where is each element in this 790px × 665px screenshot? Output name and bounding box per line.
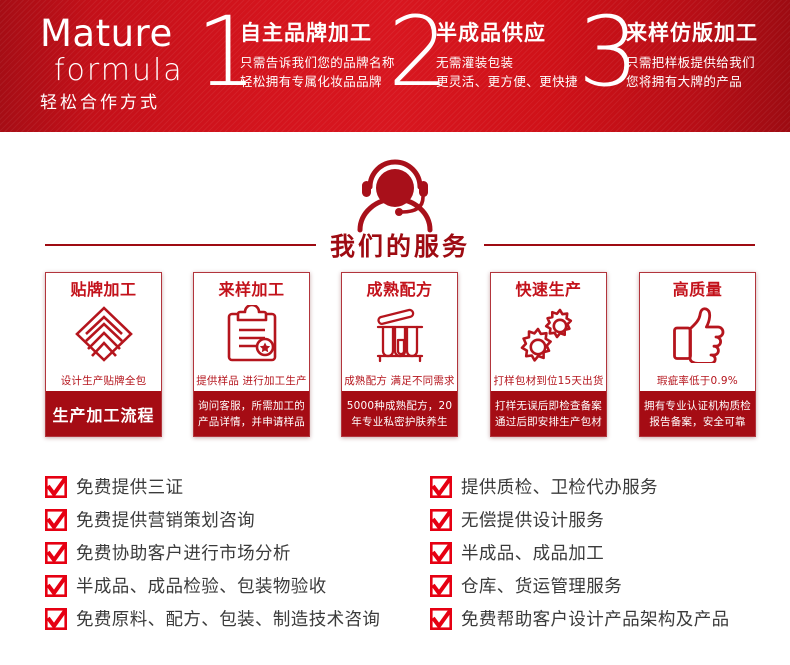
header-item-2-title: 半成品供应 (436, 20, 578, 46)
card-4-footer: 打样无误后即检查备案 通过后即安排生产包材 (491, 391, 606, 436)
card-3-subtitle: 成熟配方 满足不同需求 (342, 369, 457, 391)
header-item-3-text: 来样仿版加工 只需把样板提供给我们 您将拥有大牌的产品 (626, 20, 758, 91)
checklist-label: 无偿提供设计服务 (461, 507, 604, 532)
card-2-footer-line1: 询问客服，所需加工的 (198, 398, 305, 414)
checklist-label: 仓库、货运管理服务 (461, 573, 622, 598)
list-item: 免费协助客户进行市场分析 (45, 536, 425, 569)
checkbox-checked-icon (45, 608, 67, 630)
checklist-label: 半成品、成品检验、包装物验收 (76, 573, 327, 598)
card-4-subtitle: 打样包材到位15天出货 (491, 369, 606, 391)
card-4-title: 快速生产 (515, 280, 581, 300)
benefits-checklist: 免费提供三证 免费提供营销策划咨询 免费协助客户进行市场分析 半成品、成品检验、… (45, 470, 765, 640)
header-item-1-line1: 只需告诉我们您的品牌名称 (240, 53, 395, 72)
header-item-3-line2: 您将拥有大牌的产品 (626, 72, 758, 91)
checkbox-checked-icon (430, 509, 452, 531)
header-item-1-title: 自主品牌加工 (240, 20, 395, 46)
card-2-subtitle: 提供样品 进行加工生产 (194, 369, 309, 391)
service-section-title: 我们的服务 (45, 228, 755, 262)
checklist-label: 免费提供营销策划咨询 (76, 507, 255, 532)
card-5-subtitle: 瑕疵率低于0.9% (640, 369, 755, 391)
brand-line-mature: Mature (40, 14, 205, 54)
header-item-1-line2: 轻松拥有专属化妆品品牌 (240, 72, 395, 91)
service-card-5[interactable]: 高质量 瑕疵率低于0.9% 拥有专业认证机构质检 报告备案，安全可靠 (639, 272, 756, 437)
card-4-head: 快速生产 (491, 273, 606, 369)
list-item: 免费原料、配方、包装、制造技术咨询 (45, 602, 425, 635)
checkbox-checked-icon (45, 509, 67, 531)
checkbox-checked-icon (430, 608, 452, 630)
checklist-column-left: 免费提供三证 免费提供营销策划咨询 免费协助客户进行市场分析 半成品、成品检验、… (45, 470, 425, 635)
diamond-chevron-icon (74, 303, 134, 365)
card-3-footer-line1: 5000种成熟配方，20 (347, 398, 452, 414)
list-item: 免费提供营销策划咨询 (45, 503, 425, 536)
list-item: 提供质检、卫检代办服务 (430, 470, 790, 503)
card-1-footer: 生产加工流程 (46, 391, 161, 436)
service-card-4[interactable]: 快速生产 打样包材到位15天出货 打样无误后即检查备案 通过后即安排生产包材 (490, 272, 607, 437)
list-item: 半成品、成品加工 (430, 536, 790, 569)
card-5-footer: 拥有专业认证机构质检 报告备案，安全可靠 (640, 391, 755, 436)
service-card-2[interactable]: 来样加工 提供样品 进行加工生产 (193, 272, 310, 437)
checkbox-checked-icon (430, 575, 452, 597)
list-item: 免费提供三证 (45, 470, 425, 503)
card-5-title: 高质量 (673, 280, 723, 300)
checkbox-checked-icon (430, 476, 452, 498)
card-1-subtitle: 设计生产贴牌全包 (46, 369, 161, 391)
card-1-title: 贴牌加工 (70, 280, 136, 300)
checklist-label: 免费协助客户进行市场分析 (76, 540, 291, 565)
list-item: 免费帮助客户设计产品架构及产品 (430, 602, 790, 635)
service-card-1[interactable]: 贴牌加工 设计生产贴牌全包 生产加工流程 (45, 272, 162, 437)
checklist-label: 提供质检、卫检代办服务 (461, 474, 658, 499)
gears-icon (518, 303, 580, 365)
card-5-footer-line1: 拥有专业认证机构质检 (644, 398, 751, 414)
title-rule-right (484, 244, 755, 246)
brand-block: Mature formula 轻松合作方式 (40, 14, 205, 115)
thumbs-up-icon (668, 303, 728, 365)
checkbox-checked-icon (45, 575, 67, 597)
clipboard-star-icon (224, 303, 280, 365)
checklist-label: 免费原料、配方、包装、制造技术咨询 (76, 606, 380, 631)
checklist-column-right: 提供质检、卫检代办服务 无偿提供设计服务 半成品、成品加工 仓库、货运管理服务 (430, 470, 790, 635)
card-2-footer: 询问客服，所需加工的 产品详情，并申请样品 (194, 391, 309, 436)
header-item-1-text: 自主品牌加工 只需告诉我们您的品牌名称 轻松拥有专属化妆品品牌 (240, 20, 395, 91)
title-rule-left (45, 244, 316, 246)
checkbox-checked-icon (45, 476, 67, 498)
service-title-text: 我们的服务 (316, 227, 484, 263)
checkbox-checked-icon (45, 542, 67, 564)
card-2-footer-line2: 产品详情，并申请样品 (198, 414, 305, 430)
headset-operator-icon (352, 155, 438, 233)
header-item-2-text: 半成品供应 无需灌装包装 更灵活、更方便、更快捷 (436, 20, 578, 91)
card-5-head: 高质量 (640, 273, 755, 369)
promo-page: Mature formula 轻松合作方式 1 自主品牌加工 只需告诉我们您的品… (0, 0, 790, 665)
header-item-2-line1: 无需灌装包装 (436, 53, 578, 72)
card-3-footer-line2: 年专业私密护肤养生 (351, 414, 447, 430)
card-1-head: 贴牌加工 (46, 273, 161, 369)
checklist-label: 免费提供三证 (76, 474, 183, 499)
brand-line-chinese: 轻松合作方式 (40, 91, 205, 115)
card-5-footer-line2: 报告备案，安全可靠 (649, 414, 745, 430)
card-4-footer-line1: 打样无误后即检查备案 (495, 398, 602, 414)
checklist-label: 免费帮助客户设计产品架构及产品 (461, 606, 730, 631)
list-item: 半成品、成品检验、包装物验收 (45, 569, 425, 602)
test-tube-rack-icon (369, 303, 431, 365)
card-3-footer: 5000种成熟配方，20 年专业私密护肤养生 (342, 391, 457, 436)
card-2-title: 来样加工 (218, 280, 284, 300)
card-3-head: 成熟配方 (342, 273, 457, 369)
header-item-2-line2: 更灵活、更方便、更快捷 (436, 72, 578, 91)
service-cards: 贴牌加工 设计生产贴牌全包 生产加工流程 (45, 272, 755, 437)
card-4-footer-line2: 通过后即安排生产包材 (495, 414, 602, 430)
header-item-3-title: 来样仿版加工 (626, 20, 758, 46)
card-2-head: 来样加工 (194, 273, 309, 369)
brand-line-formula: formula (54, 54, 205, 88)
header-item-3-line1: 只需把样板提供给我们 (626, 53, 758, 72)
checkbox-checked-icon (430, 542, 452, 564)
header-banner: Mature formula 轻松合作方式 1 自主品牌加工 只需告诉我们您的品… (0, 0, 790, 132)
list-item: 仓库、货运管理服务 (430, 569, 790, 602)
list-item: 无偿提供设计服务 (430, 503, 790, 536)
checklist-label: 半成品、成品加工 (461, 540, 604, 565)
service-card-3[interactable]: 成熟配方 (341, 272, 458, 437)
card-3-title: 成熟配方 (366, 280, 432, 300)
